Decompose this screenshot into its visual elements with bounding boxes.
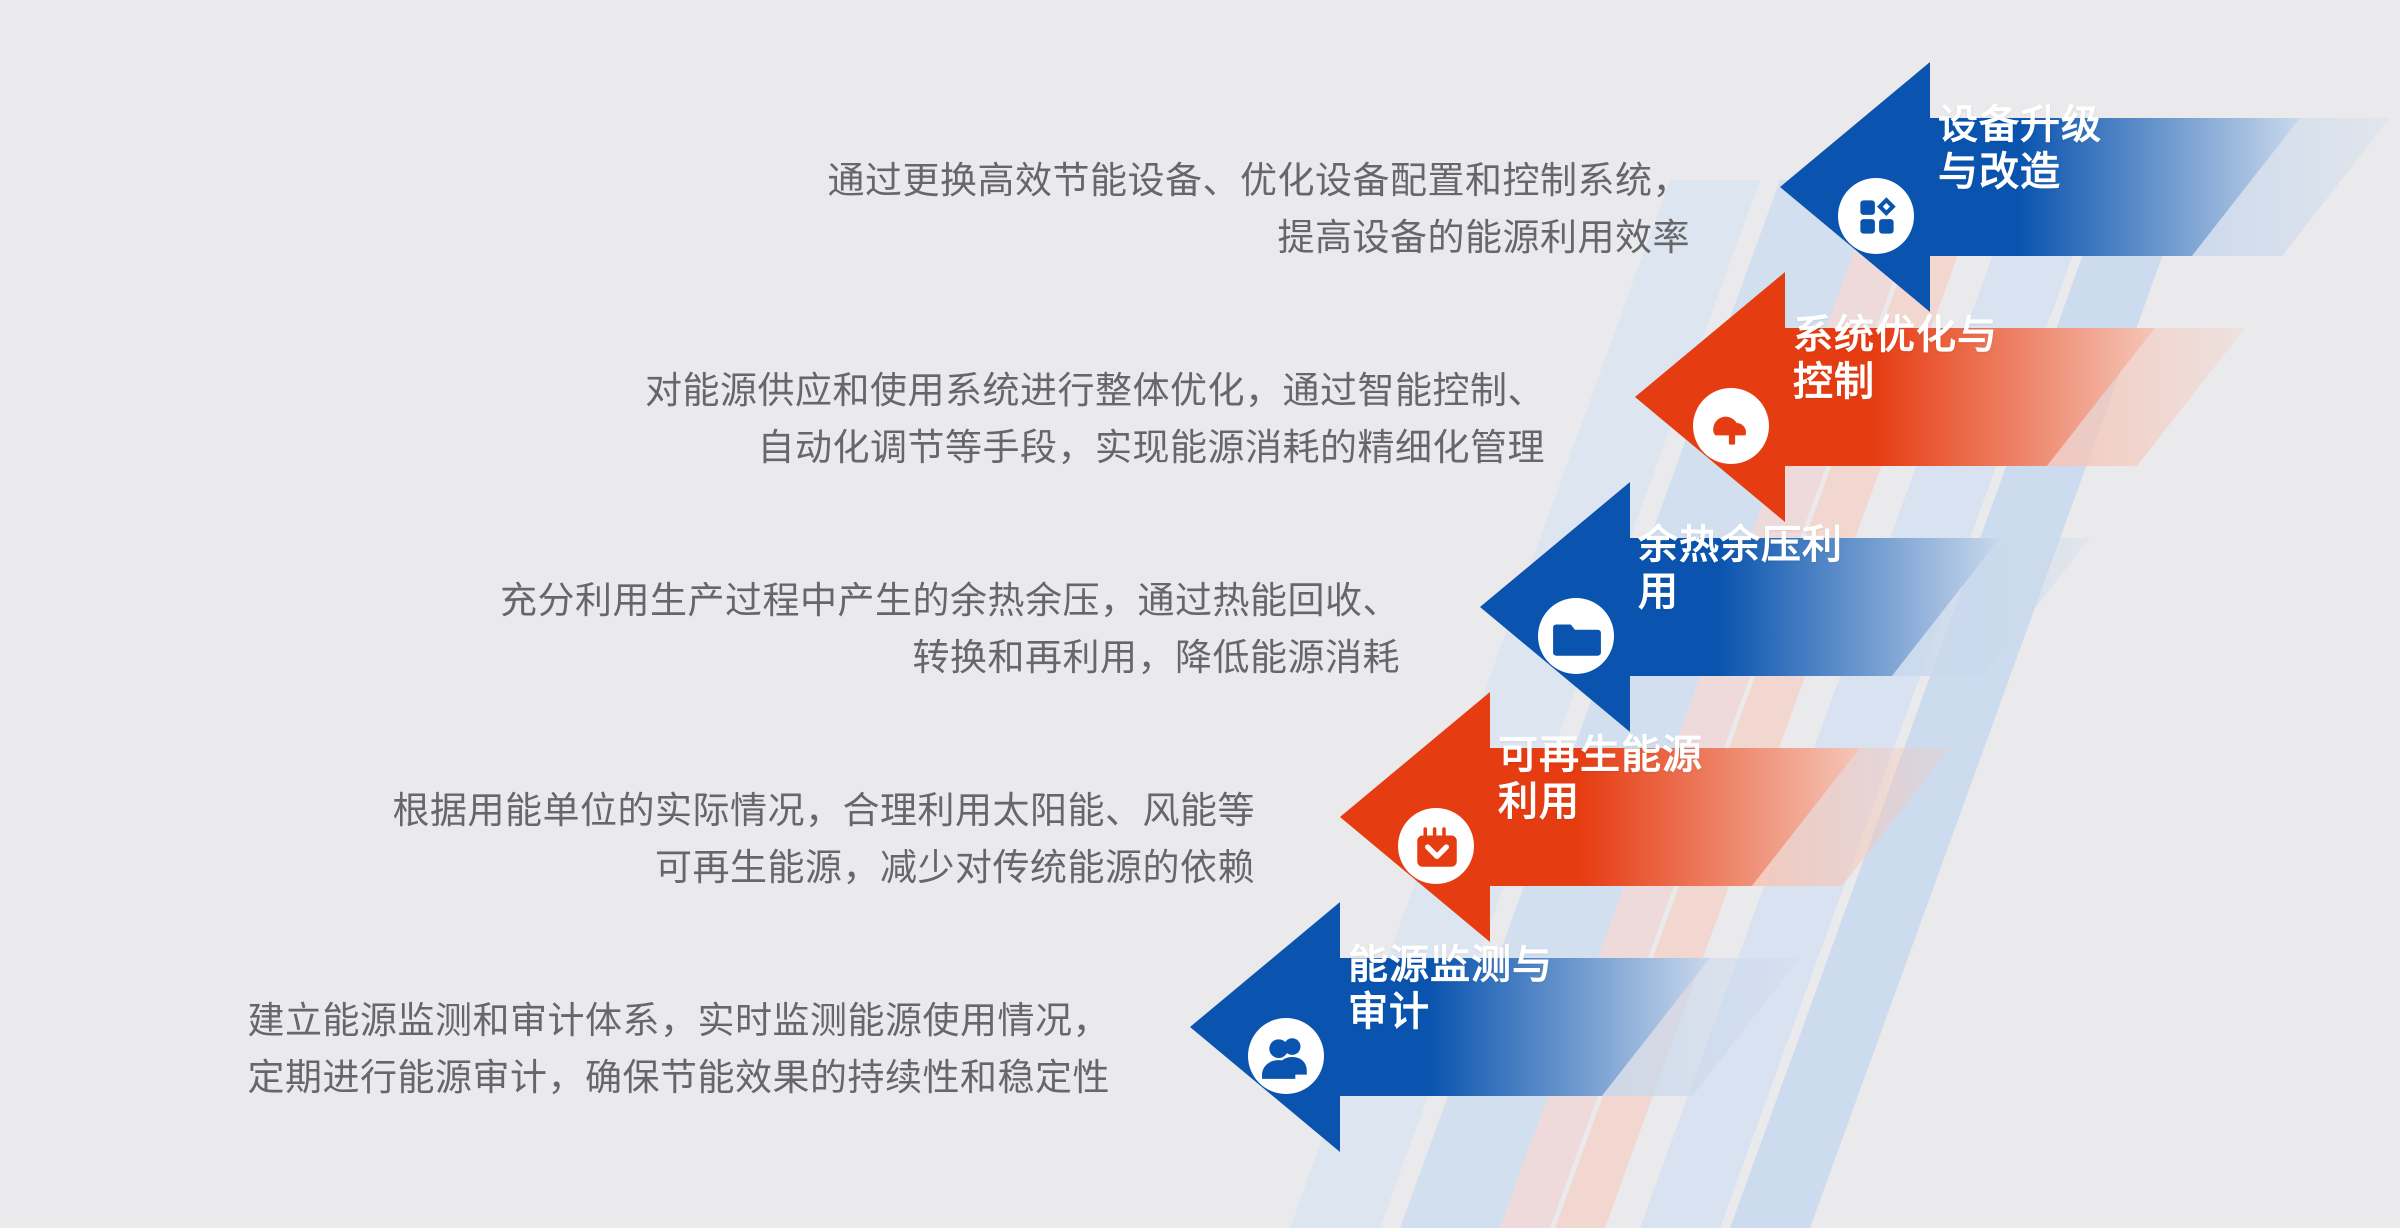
- step-description-line: 自动化调节等手段，实现能源消耗的精细化管理: [0, 419, 1545, 476]
- step-description-line: 可再生能源，减少对传统能源的依赖: [0, 839, 1255, 896]
- step-description-line: 定期进行能源审计，确保节能效果的持续性和稳定性: [0, 1049, 1110, 1106]
- infographic-canvas: 设备升级与改造系统优化与控制余热余压利用可再生能源利用能源监测与审计 通过更换高…: [0, 0, 2400, 1228]
- step-description-line: 转换和再利用，降低能源消耗: [0, 629, 1400, 686]
- step-description-line: 通过更换高效节能设备、优化设备配置和控制系统，: [0, 152, 1690, 209]
- step-description-line: 充分利用生产过程中产生的余热余压，通过热能回收、: [0, 572, 1400, 629]
- step-description-line: 建立能源监测和审计体系，实时监测能源使用情况，: [0, 992, 1110, 1049]
- step-description-4: 根据用能单位的实际情况，合理利用太阳能、风能等可再生能源，减少对传统能源的依赖: [0, 782, 1255, 897]
- step-description-line: 提高设备的能源利用效率: [0, 209, 1690, 266]
- description-group: 通过更换高效节能设备、优化设备配置和控制系统，提高设备的能源利用效率对能源供应和…: [0, 0, 2400, 1228]
- step-description-line: 对能源供应和使用系统进行整体优化，通过智能控制、: [0, 362, 1545, 419]
- step-description-5: 建立能源监测和审计体系，实时监测能源使用情况，定期进行能源审计，确保节能效果的持…: [0, 992, 1110, 1107]
- step-description-line: 根据用能单位的实际情况，合理利用太阳能、风能等: [0, 782, 1255, 839]
- step-description-2: 对能源供应和使用系统进行整体优化，通过智能控制、自动化调节等手段，实现能源消耗的…: [0, 362, 1545, 477]
- step-description-1: 通过更换高效节能设备、优化设备配置和控制系统，提高设备的能源利用效率: [0, 152, 1690, 267]
- step-description-3: 充分利用生产过程中产生的余热余压，通过热能回收、转换和再利用，降低能源消耗: [0, 572, 1400, 687]
